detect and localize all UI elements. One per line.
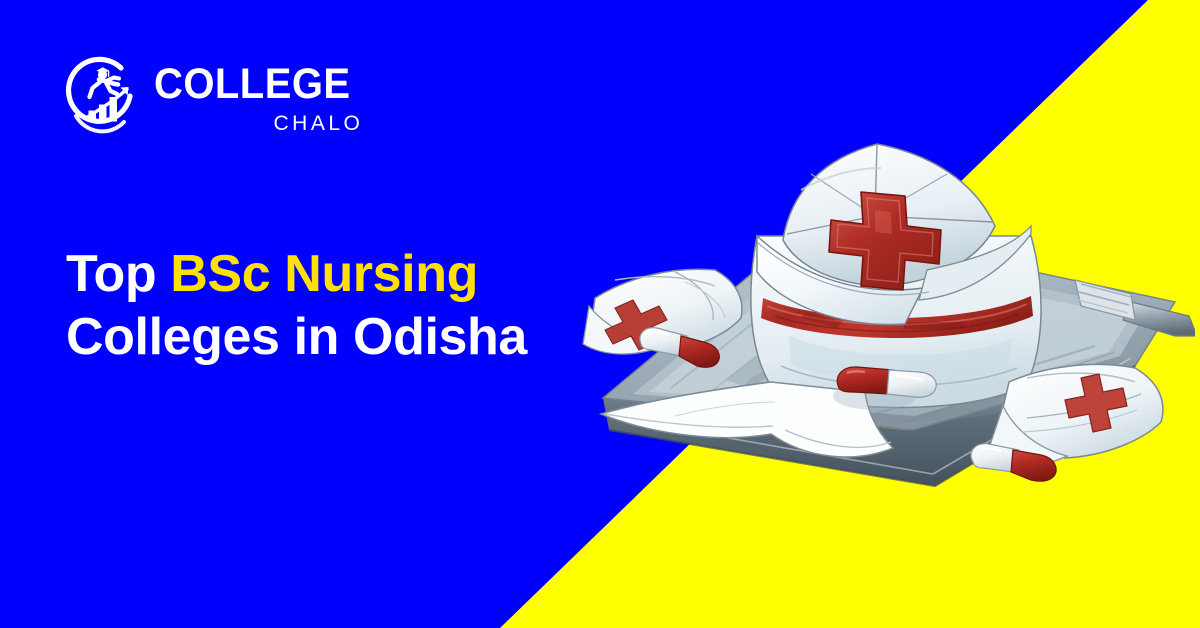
logo-primary-text: COLLEGE: [154, 63, 351, 106]
banner: COLLEGE CHALO Top BSc NursingColleges in…: [0, 0, 1200, 628]
logo-wordmark: COLLEGE CHALO: [154, 63, 365, 134]
logo-secondary-text: CHALO: [273, 113, 363, 134]
headline-line2: Colleges in Odisha: [66, 308, 527, 366]
nurse-cap-on-medical-tray-illustration: [575, 130, 1195, 510]
site-logo[interactable]: COLLEGE CHALO: [58, 52, 365, 144]
headline-line1-prefix: Top: [66, 245, 170, 303]
college-chalo-graduate-growth-icon: [58, 52, 144, 144]
page-title: Top BSc NursingColleges in Odisha: [66, 243, 626, 370]
small-nurse-cap-left: [583, 269, 742, 367]
headline-highlight: BSc Nursing: [170, 245, 478, 303]
